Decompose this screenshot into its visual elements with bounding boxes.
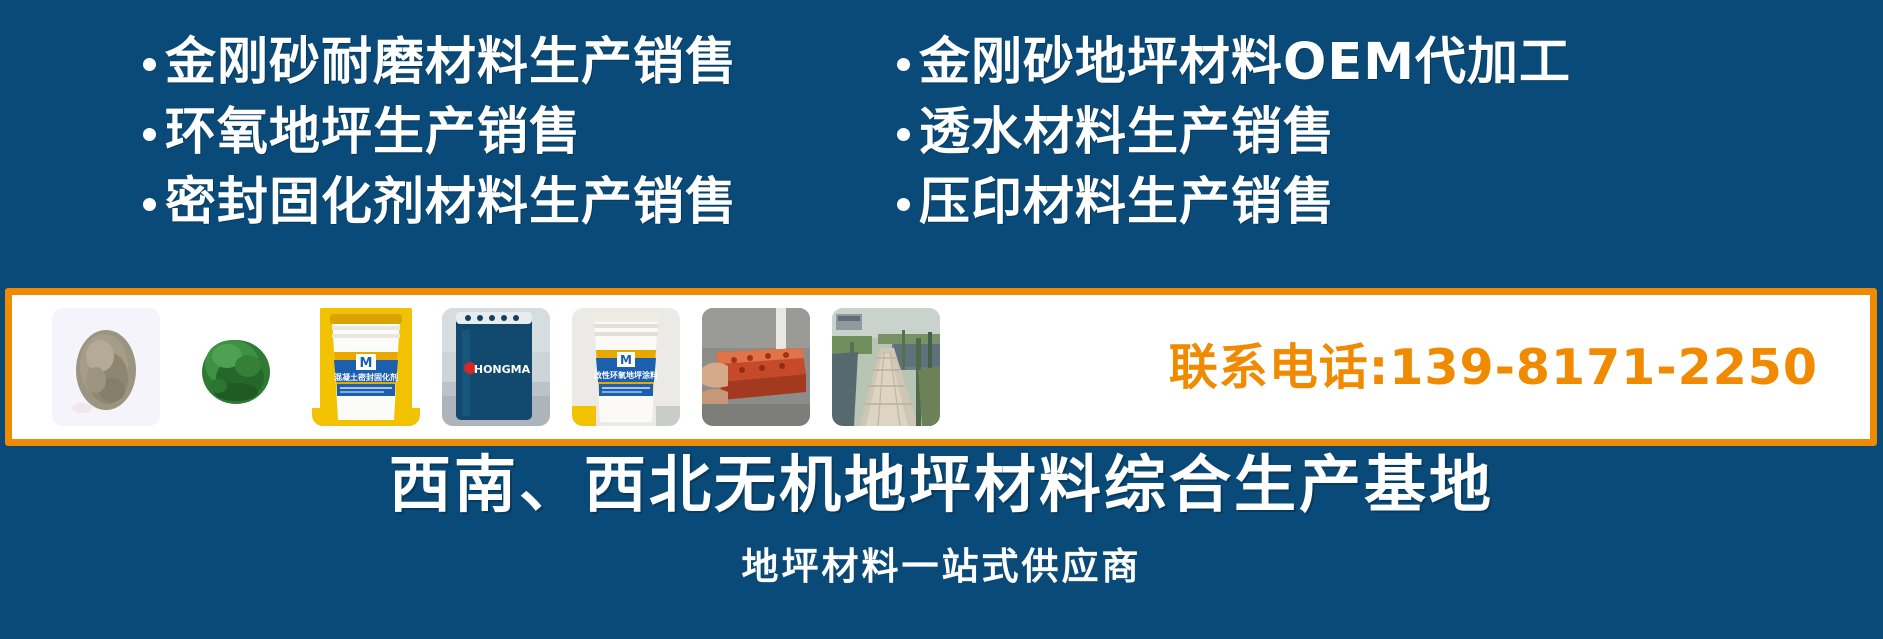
product-thumb-grey-abrasive-powder [52, 308, 160, 426]
feature-label: 密封固化剂材料生产销售 [165, 177, 737, 228]
feature-column-left: 金刚砂耐磨材料生产销售 环氧地坪生产销售 密封固化剂材料生产销售 [0, 34, 880, 256]
svg-text:M: M [620, 353, 632, 367]
product-thumb-hongma-drum: HONGMA [442, 308, 550, 426]
feature-label: 压印材料生产销售 [919, 177, 1335, 228]
svg-text:HONGMA: HONGMA [474, 363, 531, 376]
feature-item: 透水材料生产销售 [897, 104, 1883, 160]
svg-text:M: M [360, 356, 373, 371]
feature-column-right: 金刚砂地坪材料OEM代加工 透水材料生产销售 压印材料生产销售 [880, 34, 1883, 256]
feature-item: 金刚砂地坪材料OEM代加工 [897, 34, 1883, 90]
contact-phone[interactable]: 联系电话:139-8171-2250 [1169, 343, 1870, 392]
product-thumb-red-permeable-sample [702, 308, 810, 426]
feature-label: 环氧地坪生产销售 [165, 107, 581, 158]
product-strip-panel: M 混凝土密封固化剂 [5, 288, 1877, 446]
promotional-banner: 金刚砂耐磨材料生产销售 环氧地坪生产销售 密封固化剂材料生产销售 金刚砂地坪材料… [0, 0, 1883, 639]
product-thumb-sealer-bucket: M 混凝土密封固化剂 [312, 308, 420, 426]
feature-label: 金刚砂地坪材料OEM代加工 [919, 37, 1571, 88]
bullet-icon [897, 58, 910, 71]
bullet-icon [897, 198, 910, 211]
feature-label: 透水材料生产销售 [919, 107, 1335, 158]
bullet-icon [897, 128, 910, 141]
feature-item: 环氧地坪生产销售 [143, 104, 880, 160]
tagline: 地坪材料一站式供应商 [0, 548, 1883, 587]
svg-text:混凝土密封固化剂: 混凝土密封固化剂 [334, 372, 398, 382]
svg-text:改性环氧地坪涂料: 改性环氧地坪涂料 [594, 370, 658, 380]
bullet-icon [143, 58, 156, 71]
bullet-icon [143, 198, 156, 211]
product-thumb-epoxy-bucket: M 改性环氧地坪涂料 [572, 308, 680, 426]
product-thumb-stamped-pathway [832, 308, 940, 426]
product-thumbnail-list: M 混凝土密封固化剂 [12, 308, 940, 426]
bullet-icon [143, 128, 156, 141]
feature-item: 密封固化剂材料生产销售 [143, 174, 880, 230]
product-thumb-green-abrasive-powder [182, 308, 290, 426]
feature-item: 金刚砂耐磨材料生产销售 [143, 34, 880, 90]
feature-lists: 金刚砂耐磨材料生产销售 环氧地坪生产销售 密封固化剂材料生产销售 金刚砂地坪材料… [0, 34, 1883, 256]
feature-label: 金刚砂耐磨材料生产销售 [165, 37, 737, 88]
headline: 西南、西北无机地坪材料综合生产基地 [0, 452, 1883, 517]
feature-item: 压印材料生产销售 [897, 174, 1883, 230]
